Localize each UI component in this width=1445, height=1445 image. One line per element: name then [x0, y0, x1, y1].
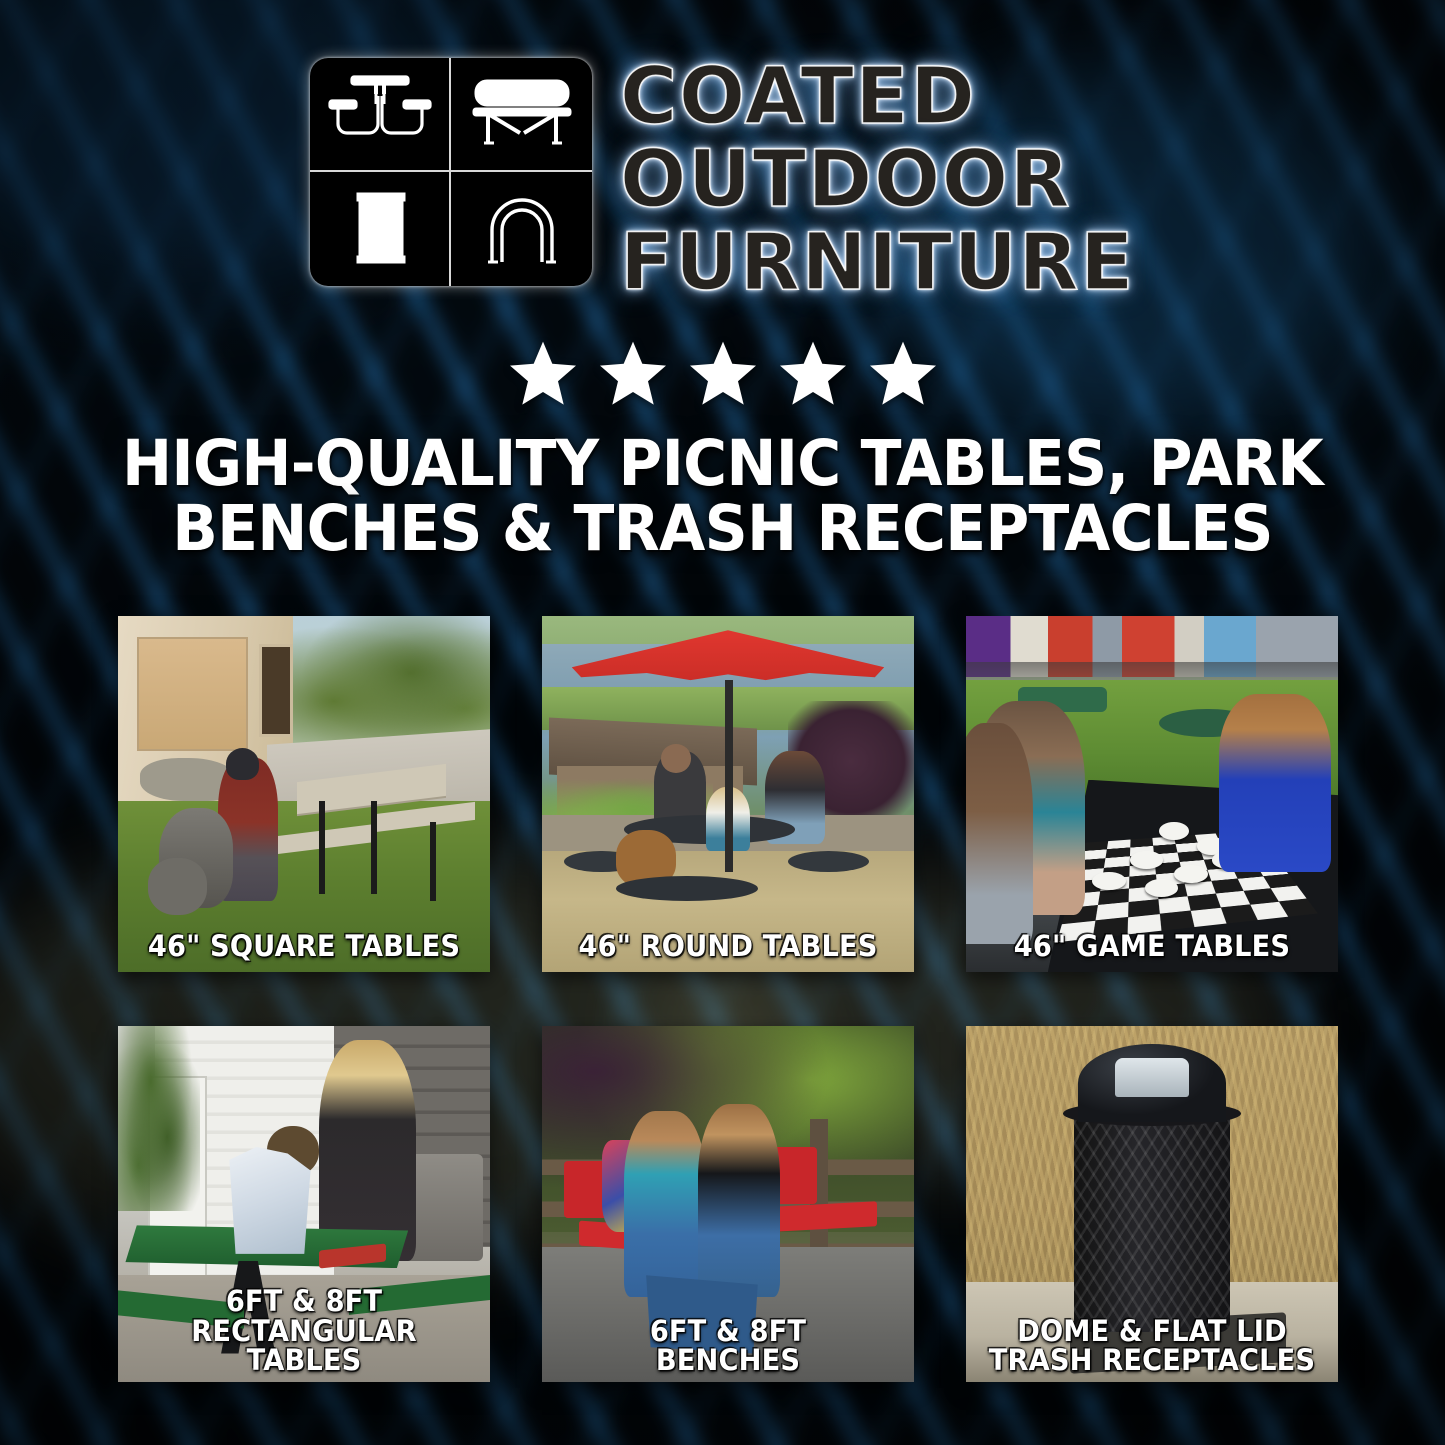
brand-header: COATED OUTDOOR FURNITURE [0, 58, 1445, 301]
caption-line-2: RECTANGULAR TABLES [129, 1317, 479, 1376]
caption-line-1: 6FT & 8FT [226, 1284, 382, 1318]
brand-line-3: FURNITURE [620, 226, 1135, 301]
product-caption: 46" SQUARE TABLES [129, 932, 479, 962]
product-photo-round-tables [542, 616, 914, 972]
product-tile-rectangular-tables[interactable]: 6FT & 8FT RECTANGULAR TABLES [118, 1026, 490, 1382]
headline: HIGH-QUALITY PICNIC TABLES, PARK BENCHES… [93, 432, 1352, 562]
product-tile-round-tables[interactable]: 46" ROUND TABLES [542, 616, 914, 972]
star-icon [686, 338, 760, 410]
caption-line-1: 6FT & 8FT [650, 1314, 806, 1348]
brand-wordmark: COATED OUTDOOR FURNITURE [620, 58, 1135, 301]
picnic-table-icon [310, 58, 451, 172]
brand-line-2: OUTDOOR [620, 143, 1135, 218]
caption-line-2: TRASH RECEPTACLES [977, 1346, 1327, 1376]
product-tile-benches[interactable]: 6FT & 8FT BENCHES [542, 1026, 914, 1382]
star-rating [0, 338, 1445, 410]
brand-logo-mark [310, 58, 592, 286]
star-icon [596, 338, 670, 410]
star-icon [866, 338, 940, 410]
product-caption: DOME & FLAT LID TRASH RECEPTACLES [977, 1317, 1327, 1376]
product-caption: 6FT & 8FT BENCHES [553, 1317, 903, 1376]
product-tile-square-tables[interactable]: 46" SQUARE TABLES [118, 616, 490, 972]
headline-line-2: BENCHES & TRASH RECEPTACLES [93, 497, 1352, 562]
headline-line-1: HIGH-QUALITY PICNIC TABLES, PARK [122, 427, 1323, 500]
product-tile-trash-receptacles[interactable]: DOME & FLAT LID TRASH RECEPTACLES [966, 1026, 1338, 1382]
product-photo-game-tables [966, 616, 1338, 972]
star-icon [776, 338, 850, 410]
product-caption: 46" ROUND TABLES [553, 932, 903, 962]
product-grid: 46" SQUARE TABLES [118, 616, 1330, 1382]
caption-line-1: 46" GAME TABLES [1014, 929, 1290, 963]
dome-lid-icon [451, 172, 592, 286]
product-photo-square-tables [118, 616, 490, 972]
caption-line-1: DOME & FLAT LID [1017, 1314, 1287, 1348]
product-caption: 6FT & 8FT RECTANGULAR TABLES [129, 1287, 479, 1376]
caption-line-1: 46" SQUARE TABLES [148, 929, 460, 963]
caption-line-2: BENCHES [553, 1346, 903, 1376]
promo-banner: COATED OUTDOOR FURNITURE HIGH-QUALITY PI… [0, 0, 1445, 1445]
bench-icon [451, 58, 592, 172]
product-tile-game-tables[interactable]: 46" GAME TABLES [966, 616, 1338, 972]
caption-line-1: 46" ROUND TABLES [578, 929, 877, 963]
trash-receptacle-icon [310, 172, 451, 286]
product-caption: 46" GAME TABLES [977, 932, 1327, 962]
star-icon [506, 338, 580, 410]
brand-line-1: COATED [620, 60, 1135, 135]
